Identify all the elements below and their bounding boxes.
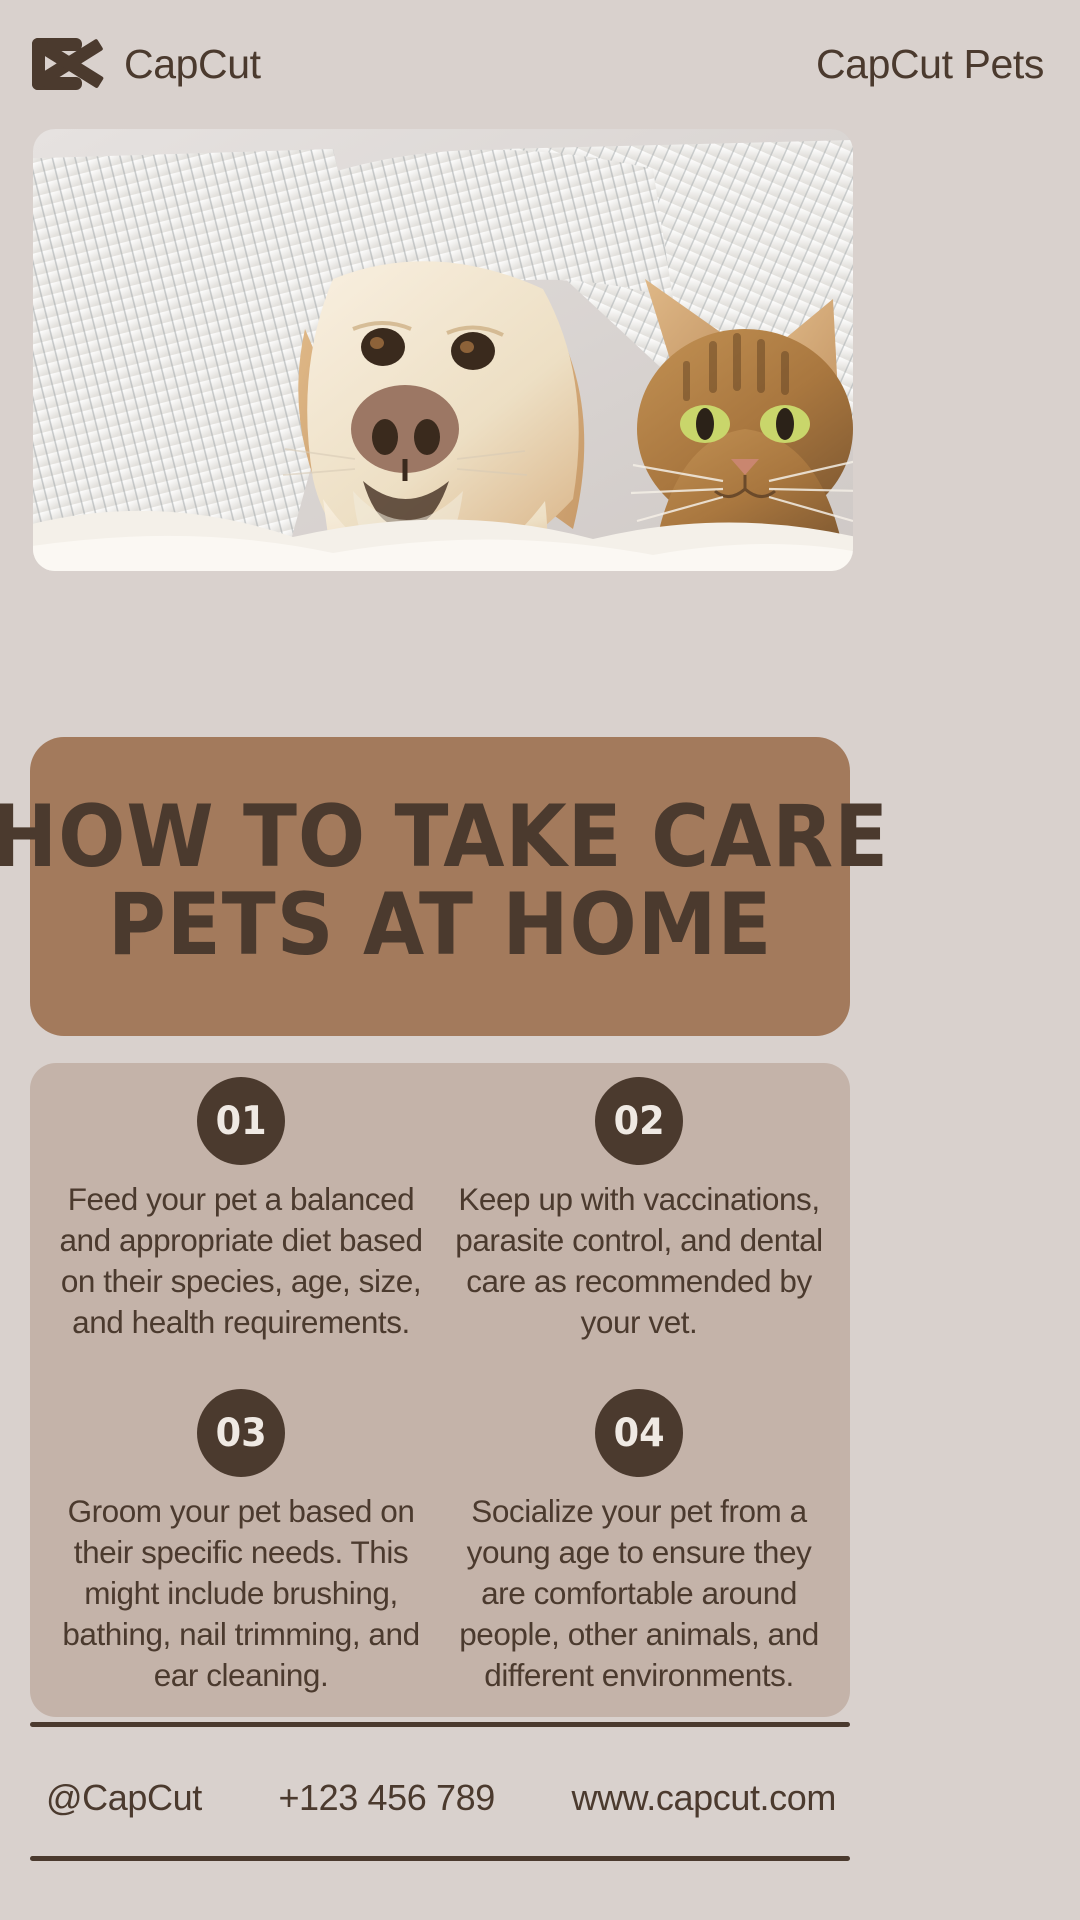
- page-title-line-1: HOW TO TAKE CARE: [0, 794, 889, 882]
- tip-description: Socialize your pet from a young age to e…: [449, 1491, 829, 1696]
- footer-divider-top: [30, 1722, 850, 1727]
- tip-description: Keep up with vaccinations, parasite cont…: [449, 1179, 829, 1343]
- tip-number-label: 02: [613, 1099, 664, 1144]
- footer-divider-bottom: [30, 1856, 850, 1861]
- page-title-line-2: PETS AT HOME: [108, 882, 772, 970]
- tip-number-badge: 01: [197, 1077, 285, 1165]
- page-footer: @CapCut +123 456 789 www.capcut.com: [30, 1748, 850, 1848]
- tip-card-03: 03 Groom your pet based on their specifi…: [42, 1389, 440, 1701]
- tip-card-01: 01 Feed your pet a balanced and appropri…: [42, 1077, 440, 1389]
- footer-social-handle[interactable]: @CapCut: [46, 1777, 202, 1819]
- brand-lockup: CapCut: [30, 34, 261, 94]
- tip-card-02: 02 Keep up with vaccinations, parasite c…: [440, 1077, 838, 1389]
- tip-card-04: 04 Socialize your pet from a young age t…: [440, 1389, 838, 1701]
- footer-phone[interactable]: +123 456 789: [278, 1777, 494, 1819]
- brand-name: CapCut: [124, 41, 261, 88]
- tip-number-badge: 03: [197, 1389, 285, 1477]
- tip-description: Groom your pet based on their specific n…: [51, 1491, 431, 1696]
- tips-panel: 01 Feed your pet a balanced and appropri…: [30, 1063, 850, 1717]
- tip-number-label: 04: [613, 1411, 664, 1456]
- title-banner: HOW TO TAKE CARE PETS AT HOME: [30, 737, 850, 1036]
- tip-number-label: 01: [215, 1099, 266, 1144]
- page-header: CapCut CapCut Pets: [0, 0, 1080, 128]
- tip-number-label: 03: [215, 1411, 266, 1456]
- footer-website[interactable]: www.capcut.com: [571, 1777, 836, 1819]
- tip-number-badge: 02: [595, 1077, 683, 1165]
- tip-number-badge: 04: [595, 1389, 683, 1477]
- header-right-label: CapCut Pets: [816, 41, 1044, 88]
- tip-description: Feed your pet a balanced and appropriate…: [51, 1179, 431, 1343]
- capcut-logo-icon: [30, 34, 108, 94]
- hero-photo: [33, 129, 853, 571]
